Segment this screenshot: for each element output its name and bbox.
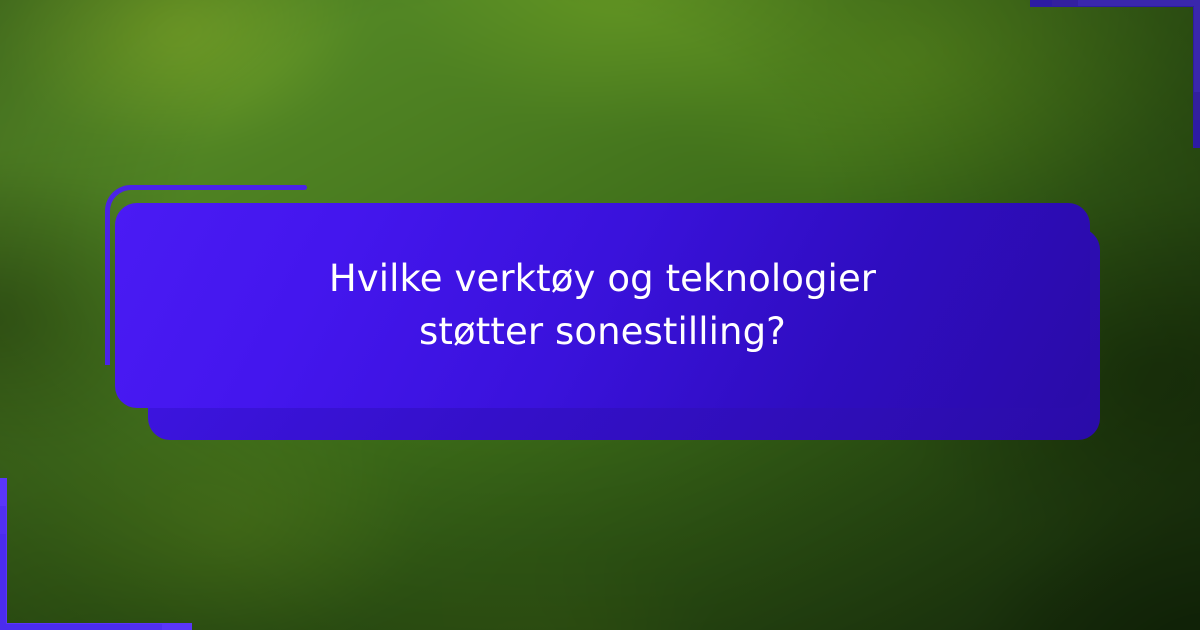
social-card-canvas: Hvilke verktøy og teknologier støtter so…: [0, 0, 1200, 630]
question-card: Hvilke verktøy og teknologier støtter so…: [105, 185, 1100, 440]
question-text: Hvilke verktøy og teknologier støtter so…: [273, 253, 933, 358]
card-front-layer: Hvilke verktøy og teknologier støtter so…: [115, 203, 1090, 408]
